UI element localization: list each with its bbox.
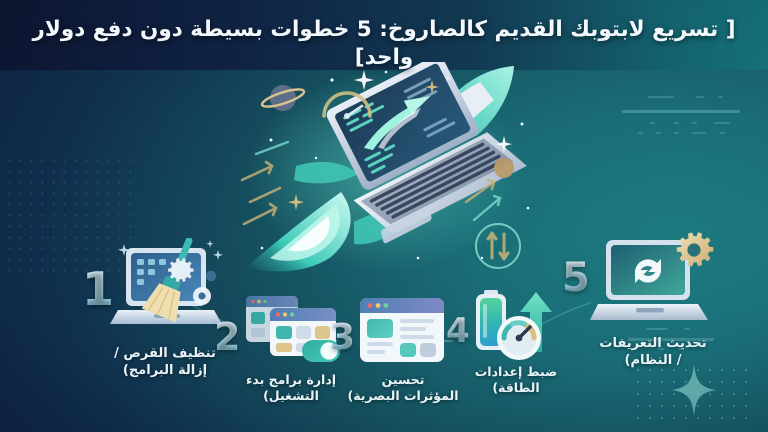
battery-gauge-icon (472, 280, 556, 362)
step-caption-5-line1: تحديث التعريفات (548, 336, 758, 353)
page-title: [ تسريع لابتوبك القديم كالصاروخ: 5 خطوات… (0, 16, 768, 73)
step-number-2: 2 (214, 318, 240, 356)
planet-gold (494, 158, 514, 178)
step-caption-5-line2: / النظام) (548, 353, 758, 370)
gear-icon (168, 258, 193, 282)
steps-row: 1 (0, 226, 768, 426)
step-caption-5: تحديث التعريفات / النظام) (548, 336, 758, 369)
dash-marks-top-right-decoration (622, 92, 742, 138)
step-number-3: 3 (330, 320, 355, 356)
step-number-4: 4 (446, 314, 470, 348)
laptop-refresh-gear-icon (590, 224, 720, 332)
step-item-5[interactable]: 5 (548, 224, 758, 384)
infographic-canvas: [ تسريع لابتوبك القديم كالصاروخ: 5 خطوات… (0, 0, 768, 432)
step-number-5: 5 (562, 258, 590, 298)
window-visual-effects-icon (356, 294, 448, 368)
